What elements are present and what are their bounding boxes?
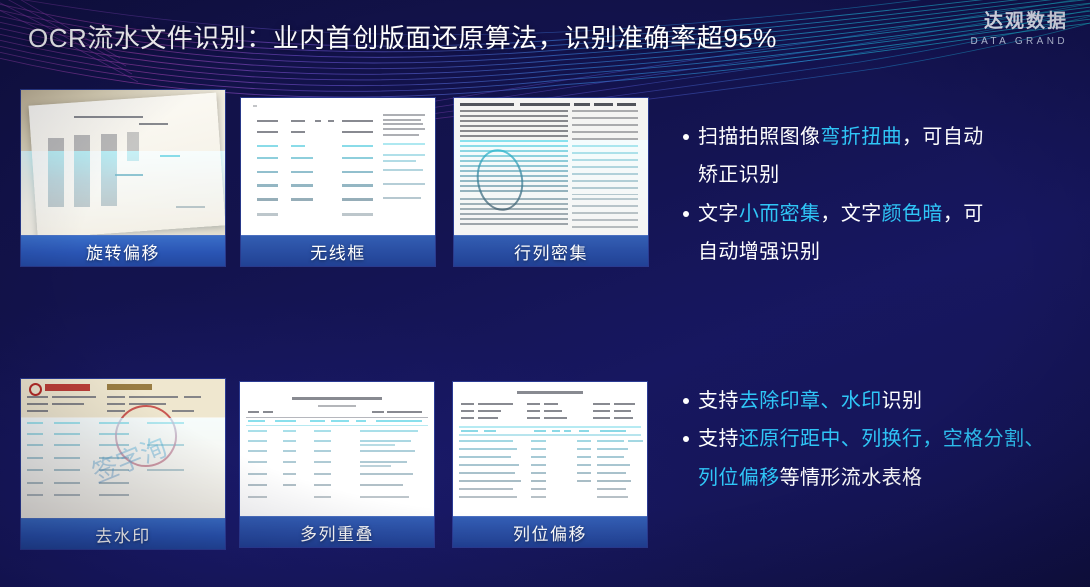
card-caption: 旋转偏移	[21, 235, 225, 266]
card-caption: 列位偏移	[453, 516, 647, 547]
card-caption: 无线框	[241, 235, 435, 266]
card-caption: 行列密集	[454, 235, 648, 266]
feature-bullet: 矫正识别	[683, 159, 1073, 191]
sample-card-rotation-skew[interactable]: 旋转偏移	[20, 89, 226, 267]
bullet-dot-icon	[683, 436, 689, 442]
brand-logo: 达观数据 DATA GRAND	[970, 12, 1068, 47]
feature-list-top: 扫描拍照图像弯折扭曲，可自动矫正识别文字小而密集，文字颜色暗，可自动增强识别	[683, 121, 1073, 275]
highlighted-keyword: 还原行距中、列换行，空格分割、	[739, 428, 1045, 450]
sample-card-overlapping-columns[interactable]: 多列重叠	[239, 381, 435, 548]
bullet-dot-icon	[683, 211, 689, 217]
document-preview	[241, 98, 435, 235]
plain-text: ，可	[943, 203, 984, 225]
logo-english-name: DATA GRAND	[970, 36, 1068, 47]
feature-bullet: 支持还原行距中、列换行，空格分割、	[683, 423, 1083, 455]
feature-bullet: 文字小而密集，文字颜色暗，可	[683, 198, 1073, 230]
feature-bullet-text: 文字小而密集，文字颜色暗，可	[698, 198, 984, 230]
plain-text: 支持	[698, 428, 739, 450]
slide-canvas: OCR流水文件识别：业内首创版面还原算法，识别准确率超95% 达观数据 DATA…	[0, 0, 1090, 587]
card-photo: 签字洵	[21, 379, 225, 518]
card-photo	[21, 90, 225, 235]
plain-text: ，可自动	[902, 126, 984, 148]
plain-text: 支持	[698, 390, 739, 412]
bullet-dot-icon	[683, 134, 689, 140]
feature-bullet: 支持去除印章、水印识别	[683, 385, 1083, 417]
highlighted-keyword: 去除印章、水印	[739, 390, 882, 412]
feature-bullet-text: 矫正识别	[698, 159, 780, 191]
card-photo	[454, 98, 648, 235]
plain-text: 识别	[882, 390, 923, 412]
highlighted-keyword: 弯折扭曲	[820, 126, 902, 148]
feature-bullet-text: 扫描拍照图像弯折扭曲，可自动	[698, 121, 984, 153]
card-photo	[240, 382, 434, 516]
document-preview	[454, 98, 648, 235]
feature-bullet-text: 支持还原行距中、列换行，空格分割、	[698, 423, 1045, 455]
card-caption: 去水印	[21, 518, 225, 549]
card-photo	[453, 382, 647, 516]
sample-card-borderless[interactable]: 无线框	[240, 97, 436, 267]
plain-text: 文字	[698, 203, 739, 225]
page-title: OCR流水文件识别：业内首创版面还原算法，识别准确率超95%	[28, 18, 777, 55]
plain-text: 等情形流水表格	[780, 467, 923, 489]
feature-bullet-text: 自动增强识别	[698, 236, 820, 268]
feature-bullet: 自动增强识别	[683, 236, 1073, 268]
card-photo	[241, 98, 435, 235]
slide-header: OCR流水文件识别：业内首创版面还原算法，识别准确率超95% 达观数据 DATA…	[0, 0, 1090, 72]
document-preview	[240, 382, 434, 516]
feature-bullet-text: 支持去除印章、水印识别	[698, 385, 922, 417]
highlighted-keyword: 列位偏移	[698, 467, 780, 489]
logo-chinese-name: 达观数据	[970, 12, 1068, 33]
card-caption: 多列重叠	[240, 516, 434, 547]
sample-card-column-shift[interactable]: 列位偏移	[452, 381, 648, 548]
plain-text: ，文字	[820, 203, 881, 225]
document-preview: 签字洵	[21, 379, 225, 518]
document-preview	[453, 382, 647, 516]
feature-list-bottom: 支持去除印章、水印识别支持还原行距中、列换行，空格分割、列位偏移等情形流水表格	[683, 385, 1083, 500]
document-preview	[21, 90, 225, 235]
plain-text: 矫正识别	[698, 164, 780, 186]
bullet-dot-icon	[683, 398, 689, 404]
sample-card-watermark-removal[interactable]: 签字洵 去水印	[20, 378, 226, 550]
plain-text: 扫描拍照图像	[698, 126, 820, 148]
feature-bullet-text: 列位偏移等情形流水表格	[698, 462, 922, 494]
plain-text: 自动增强识别	[698, 241, 820, 263]
highlighted-keyword: 小而密集	[739, 203, 821, 225]
sample-card-dense-grid[interactable]: 行列密集	[453, 97, 649, 267]
highlighted-keyword: 颜色暗	[882, 203, 943, 225]
feature-bullet: 扫描拍照图像弯折扭曲，可自动	[683, 121, 1073, 153]
feature-bullet: 列位偏移等情形流水表格	[683, 462, 1083, 494]
